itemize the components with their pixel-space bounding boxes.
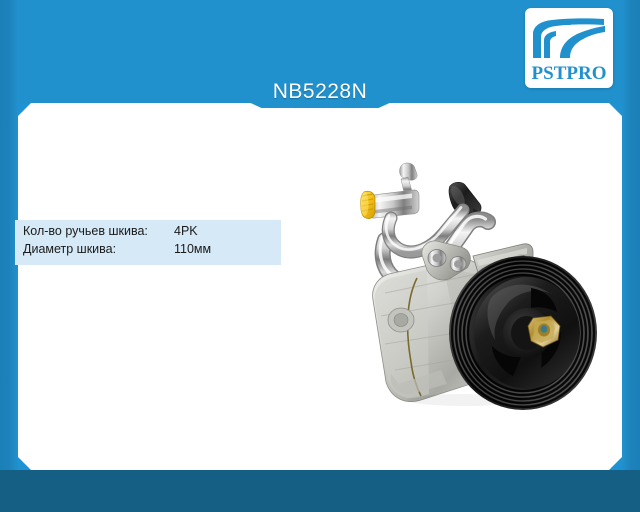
footer-band (0, 470, 640, 512)
spec-value: 110мм (174, 242, 211, 256)
spec-value: 4PK (174, 224, 198, 238)
power-steering-pump-photo (355, 148, 600, 410)
brand-wordmark: PSTPRO (525, 64, 613, 84)
spec-row: Кол-во ручьев шкива:4PK (23, 224, 281, 238)
spec-label: Кол-во ручьев шкива: (23, 224, 174, 238)
product-card-page: PSTPRO NB5228N Кол-во ручьев шкива:4PK Д… (0, 0, 640, 512)
spec-info-box: Кол-во ручьев шкива:4PK Диаметр шкива:11… (15, 220, 281, 265)
spec-label: Диаметр шкива: (23, 242, 174, 256)
brand-logo: PSTPRO (525, 8, 613, 88)
right-edge-band (622, 0, 640, 512)
pstpro-road-logo-icon (530, 12, 608, 64)
spec-row: Диаметр шкива:110мм (23, 242, 281, 256)
page-title: NB5228N (243, 80, 397, 104)
